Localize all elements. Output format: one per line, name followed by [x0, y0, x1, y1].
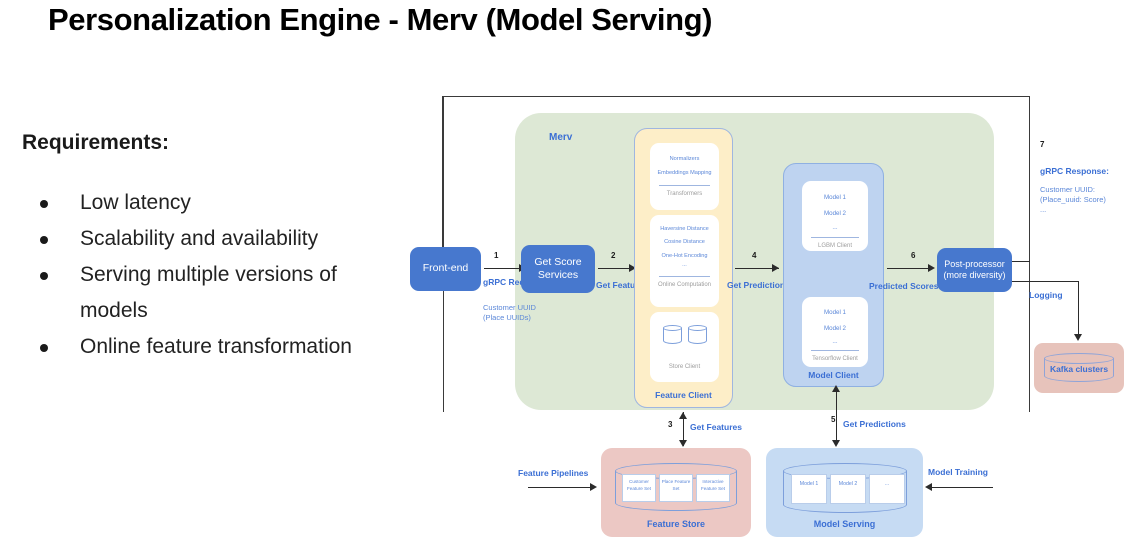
- tf-item-2: ...: [802, 334, 868, 346]
- post-processor-line-2: (more diversity): [943, 270, 1005, 281]
- node-post-processor[interactable]: Post-processor (more diversity): [937, 248, 1012, 292]
- tensorflow-client-card: Model 1 Model 2 ... Tensorflow Client: [802, 297, 868, 367]
- label-model-training: Model Training: [928, 467, 988, 477]
- database-cylinder-icon: [663, 325, 682, 347]
- database-cylinder-icon: [688, 325, 707, 347]
- flow-number-6: 6: [911, 251, 915, 260]
- list-item: Low latency: [22, 185, 397, 221]
- computation-footer: Online Computation: [650, 281, 719, 289]
- model-doc: ...: [869, 474, 905, 504]
- lgbm-item-2: ...: [802, 219, 868, 232]
- model-client-label: Model Client: [784, 370, 883, 380]
- flow-number-3: 3: [668, 420, 672, 429]
- lgbm-item-1: Model 2: [802, 202, 868, 218]
- transformers-item-1: Embeddings Mapping: [650, 163, 719, 177]
- transformers-item-0: Normalizers: [650, 143, 719, 163]
- model-training-arrow-head-icon: [925, 483, 932, 491]
- model-doc: Model 1: [791, 474, 827, 504]
- computation-item-1: Cosine Distance: [650, 233, 719, 246]
- arrow-6-line: [887, 268, 933, 269]
- node-feature-store[interactable]: Customer Feature Set Place Feature Set I…: [601, 448, 751, 537]
- arrow-5-head-up-icon: [832, 385, 840, 392]
- feature-store-label: Feature Store: [601, 519, 751, 529]
- transformers-footer: Transformers: [650, 190, 719, 198]
- transformers-card: Normalizers Embeddings Mapping Transform…: [650, 143, 719, 210]
- label-grpc-request-detail-2: (Place UUIDs): [483, 313, 531, 324]
- requirements-heading: Requirements:: [22, 131, 169, 155]
- list-item: Serving multiple versions of models: [22, 257, 397, 329]
- model-training-line: [931, 487, 993, 488]
- label-grpc-response: gRPC Response:: [1040, 166, 1109, 176]
- list-item: Scalability and availability: [22, 221, 397, 257]
- tf-item-1: Model 2: [802, 317, 868, 333]
- divider: [811, 237, 859, 238]
- post-processor-line-1: Post-processor: [943, 259, 1005, 270]
- list-item: Online feature transformation: [22, 329, 397, 365]
- flow-number-7: 7: [1040, 140, 1044, 149]
- response-feedback-left-line: [442, 96, 443, 256]
- node-front-end[interactable]: Front-end: [410, 247, 481, 291]
- flow-number-1: 1: [494, 251, 498, 260]
- node-get-score-services[interactable]: Get Score Services: [521, 245, 595, 293]
- node-model-serving[interactable]: Model 1 Model 2 ... Model Serving: [766, 448, 923, 537]
- store-client-card: Store Client: [650, 312, 719, 382]
- label-feature-pipelines: Feature Pipelines: [518, 468, 588, 478]
- arrow-4-head-icon: [772, 264, 779, 272]
- slide-canvas: Personalization Engine - Merv (Model Ser…: [0, 0, 1138, 552]
- label-get-features-3: Get Features: [690, 422, 742, 432]
- response-right-vertical: [1029, 96, 1030, 261]
- divider: [811, 350, 859, 351]
- feature-client-label: Feature Client: [635, 390, 732, 400]
- computation-item-2: One-Hot Encoding: [650, 247, 719, 260]
- store-client-cylinders: [650, 312, 719, 352]
- arrow-3-head-up-icon: [679, 412, 687, 419]
- label-grpc-response-detail-3: ...: [1040, 205, 1046, 216]
- page-title: Personalization Engine - Merv (Model Ser…: [48, 2, 712, 38]
- label-grpc-response-detail-2: (Place_uuid: Score): [1040, 195, 1106, 206]
- flow-number-2: 2: [611, 251, 615, 260]
- tf-item-0: Model 1: [802, 297, 868, 317]
- flow-number-4: 4: [752, 251, 756, 260]
- feature-set-doc: Interactive Feature Set: [696, 474, 730, 502]
- label-predicted-scores-6: Predicted Scores: [869, 281, 938, 291]
- label-get-predictions-5: Get Predictions: [843, 419, 906, 429]
- feature-set-doc: Customer Feature Set: [622, 474, 656, 502]
- flow-number-5: 5: [831, 415, 835, 424]
- node-kafka-clusters[interactable]: Kafka clusters: [1034, 343, 1124, 393]
- computation-item-0: Haversine Distance: [650, 215, 719, 233]
- online-computation-card: Haversine Distance Cosine Distance One-H…: [650, 215, 719, 307]
- response-line-to-frame: [1012, 261, 1030, 262]
- lgbm-footer: LGBM Client: [802, 242, 868, 250]
- divider: [659, 276, 710, 277]
- lgbm-client-card: Model 1 Model 2 ... LGBM Client: [802, 181, 868, 251]
- kafka-label: Kafka clusters: [1034, 364, 1124, 374]
- label-get-predictions-4: Get Predictions: [727, 280, 790, 290]
- feature-client-container[interactable]: Normalizers Embeddings Mapping Transform…: [634, 128, 733, 408]
- merv-label: Merv: [549, 132, 572, 143]
- logging-arrow-head-icon: [1074, 334, 1082, 341]
- computation-item-3: ...: [650, 260, 719, 269]
- feature-pipelines-line: [528, 487, 594, 488]
- logging-line-horizontal: [1012, 281, 1079, 282]
- divider: [659, 185, 710, 186]
- arrow-5-line: [836, 390, 837, 445]
- store-client-footer: Store Client: [650, 352, 719, 371]
- arrow-5-head-down-icon: [832, 440, 840, 447]
- logging-line-vertical: [1078, 281, 1079, 336]
- feature-set-doc: Place Feature Set: [659, 474, 693, 502]
- model-client-container[interactable]: Model 1 Model 2 ... LGBM Client Model 1 …: [783, 163, 884, 387]
- tf-footer: Tensorflow Client: [802, 355, 868, 363]
- arrow-6-head-icon: [928, 264, 935, 272]
- lgbm-item-0: Model 1: [802, 181, 868, 202]
- feature-pipelines-arrow-head-icon: [590, 483, 597, 491]
- requirements-list: Low latency Scalability and availability…: [22, 185, 397, 365]
- arrow-3-head-down-icon: [679, 440, 687, 447]
- label-logging: Logging: [1029, 290, 1063, 300]
- model-serving-label: Model Serving: [766, 519, 923, 529]
- model-doc: Model 2: [830, 474, 866, 504]
